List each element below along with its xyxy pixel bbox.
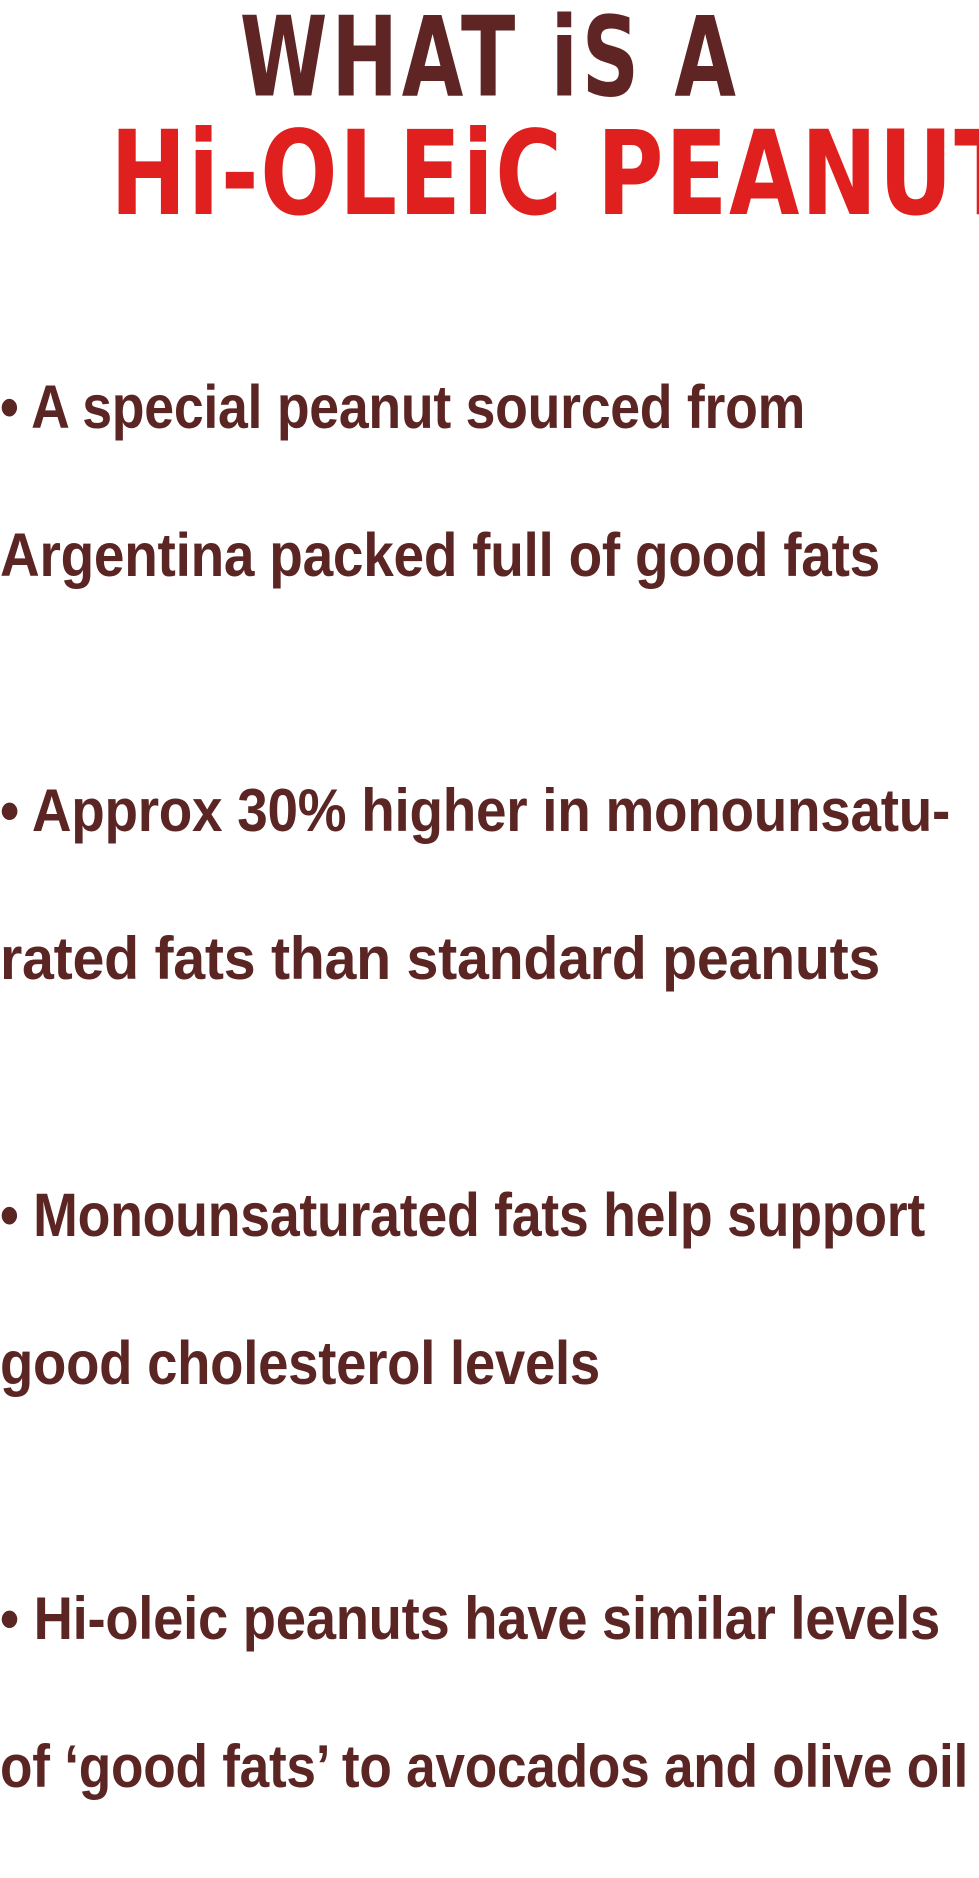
bullet-item-2: • Approx 30% higher in monounsatu- rated… xyxy=(0,700,979,1070)
bullet-item-2-line-1: • Approx 30% higher in monounsatu- xyxy=(0,774,979,848)
infographic-page: WHAT iS A Hi-OLEiC PEANUT? • A special p… xyxy=(0,0,979,976)
bullet-item-2-line-2: rated fats than standard peanuts xyxy=(0,922,979,996)
bullet-item-1-line-2: Argentina packed full of good fats xyxy=(0,518,979,592)
bullet-item-3-line-2: good cholesterol levels xyxy=(0,1326,979,1400)
headline-line-1: WHAT iS A xyxy=(0,0,979,117)
bullet-item-3: • Monounsaturated fats help support good… xyxy=(0,1104,979,1474)
bullet-item-4-line-2: of ‘good fats’ to avocados and olive oil xyxy=(0,1730,979,1804)
bullet-item-4-line-1: • Hi-oleic peanuts have similar levels xyxy=(0,1582,979,1656)
bullet-item-1: • A special peanut sourced from Argentin… xyxy=(0,296,979,666)
headline-line-2: Hi-OLEiC PEANUT? xyxy=(5,112,974,237)
bullet-item-1-line-1: • A special peanut sourced from xyxy=(0,370,979,444)
bullet-item-3-line-1: • Monounsaturated fats help support xyxy=(0,1178,979,1252)
bullet-list: • A special peanut sourced from Argentin… xyxy=(0,296,979,1878)
bullet-item-4: • Hi-oleic peanuts have similar levels o… xyxy=(0,1508,979,1878)
